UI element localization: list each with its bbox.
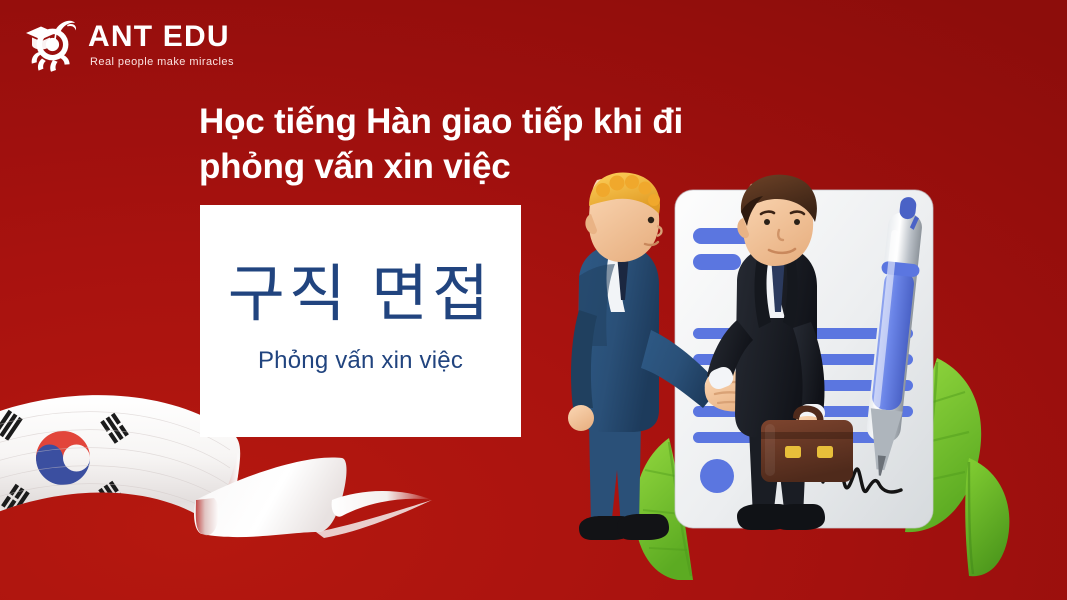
handshake-contract-3d-illustration bbox=[545, 170, 1015, 580]
promo-banner: ANT EDU Real people make miracles Học ti… bbox=[0, 0, 1067, 600]
vocabulary-card: 구직 면접 Phỏng vấn xin việc bbox=[200, 205, 521, 437]
brand-wordmark: ANT EDU Real people make miracles bbox=[88, 22, 234, 68]
page-title-line-1: Học tiếng Hàn giao tiếp khi đi bbox=[199, 102, 683, 141]
ant-graduate-icon bbox=[22, 16, 78, 74]
page-title: Học tiếng Hàn giao tiếp khi đi phỏng vấn… bbox=[199, 100, 819, 190]
vietnamese-translation: Phỏng vấn xin việc bbox=[258, 347, 463, 375]
page-title-line-2: phỏng vấn xin việc bbox=[199, 145, 819, 190]
brand-logo[interactable]: ANT EDU Real people make miracles bbox=[22, 16, 234, 74]
korean-term: 구직 면접 bbox=[228, 261, 493, 329]
brand-name: ANT EDU bbox=[88, 22, 234, 52]
brand-tagline: Real people make miracles bbox=[88, 57, 234, 68]
